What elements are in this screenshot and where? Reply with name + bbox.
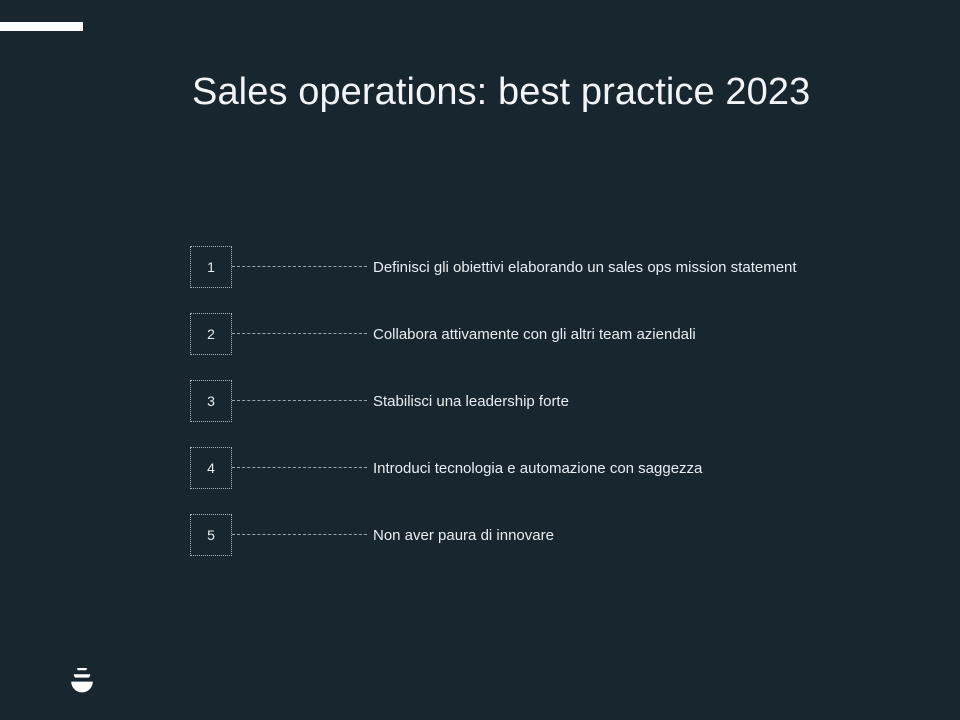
page-title: Sales operations: best practice 2023	[192, 70, 810, 116]
stacked-bowl-logo-icon	[68, 664, 96, 694]
step-number-badge: 4	[190, 447, 232, 489]
step-connector-line	[232, 266, 367, 267]
step-number: 5	[207, 527, 215, 543]
step-number: 1	[207, 259, 215, 275]
step-connector-line	[232, 333, 367, 334]
list-item: 1 Definisci gli obiettivi elaborando un …	[190, 246, 920, 288]
accent-bar	[0, 22, 83, 31]
step-number-badge: 2	[190, 313, 232, 355]
step-label: Definisci gli obiettivi elaborando un sa…	[373, 246, 797, 288]
step-number-badge: 5	[190, 514, 232, 556]
list-item: 2 Collabora attivamente con gli altri te…	[190, 313, 920, 355]
step-number-badge: 3	[190, 380, 232, 422]
list-item: 4 Introduci tecnologia e automazione con…	[190, 447, 920, 489]
slide-canvas: Sales operations: best practice 2023 1 D…	[0, 0, 960, 720]
step-label: Stabilisci una leadership forte	[373, 380, 569, 422]
step-number: 3	[207, 393, 215, 409]
steps-list: 1 Definisci gli obiettivi elaborando un …	[190, 246, 920, 556]
list-item: 3 Stabilisci una leadership forte	[190, 380, 920, 422]
step-number: 4	[207, 460, 215, 476]
step-label: Introduci tecnologia e automazione con s…	[373, 447, 702, 489]
list-item: 5 Non aver paura di innovare	[190, 514, 920, 556]
step-connector-line	[232, 400, 367, 401]
step-label: Non aver paura di innovare	[373, 514, 554, 556]
step-label: Collabora attivamente con gli altri team…	[373, 313, 696, 355]
step-number: 2	[207, 326, 215, 342]
step-connector-line	[232, 467, 367, 468]
step-connector-line	[232, 534, 367, 535]
step-number-badge: 1	[190, 246, 232, 288]
